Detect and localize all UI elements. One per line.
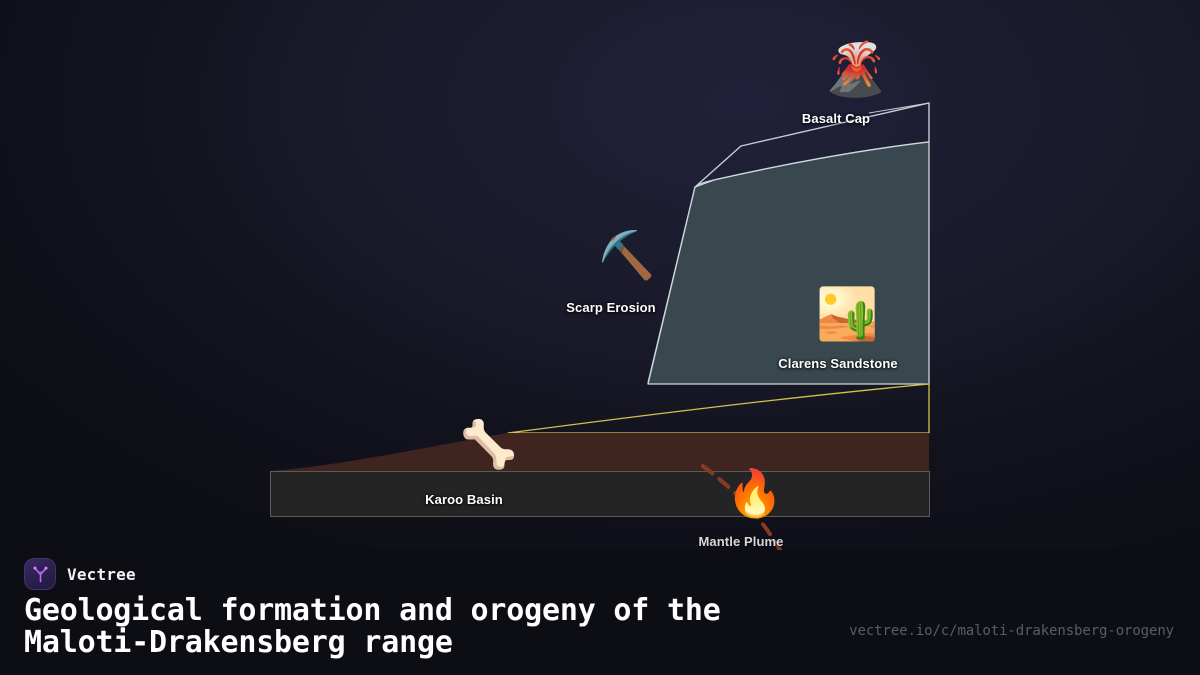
label-basalt-cap: Basalt Cap xyxy=(802,111,870,126)
vectree-tree-logo-icon xyxy=(24,558,56,590)
infographic-page: 🌋 ⛏️ 🏜️ 🦴 🔥 Basalt Cap Scarp Erosion Cla… xyxy=(0,0,1200,675)
basalt-cap-leader-line xyxy=(869,103,929,113)
source-url: vectree.io/c/maloti-drakensberg-orogeny xyxy=(849,623,1174,639)
diagram-stage: 🌋 ⛏️ 🏜️ 🦴 🔥 Basalt Cap Scarp Erosion Cla… xyxy=(0,0,1200,560)
brand-name: Vectree xyxy=(67,565,136,584)
label-scarp-erosion: Scarp Erosion xyxy=(566,300,655,315)
clarens-sandstone-shape xyxy=(648,142,929,384)
pick-icon: ⛏️ xyxy=(598,232,655,278)
elliot-formation-shape xyxy=(270,433,929,471)
bone-icon: 🦴 xyxy=(460,421,517,467)
fire-icon: 🔥 xyxy=(726,470,783,516)
brand: Vectree xyxy=(24,558,136,590)
label-clarens-sandstone: Clarens Sandstone xyxy=(778,356,897,371)
desert-icon: 🏜️ xyxy=(816,289,878,339)
page-title: Geological formation and orogeny of the … xyxy=(24,595,854,660)
volcano-icon: 🌋 xyxy=(823,44,888,96)
footer: Vectree Geological formation and orogeny… xyxy=(0,550,1200,675)
label-mantle-plume: Mantle Plume xyxy=(699,534,784,549)
mudstone-wedge-shape xyxy=(508,384,929,433)
karoo-basin-shape xyxy=(271,472,930,517)
label-karoo-basin: Karoo Basin xyxy=(425,492,503,507)
